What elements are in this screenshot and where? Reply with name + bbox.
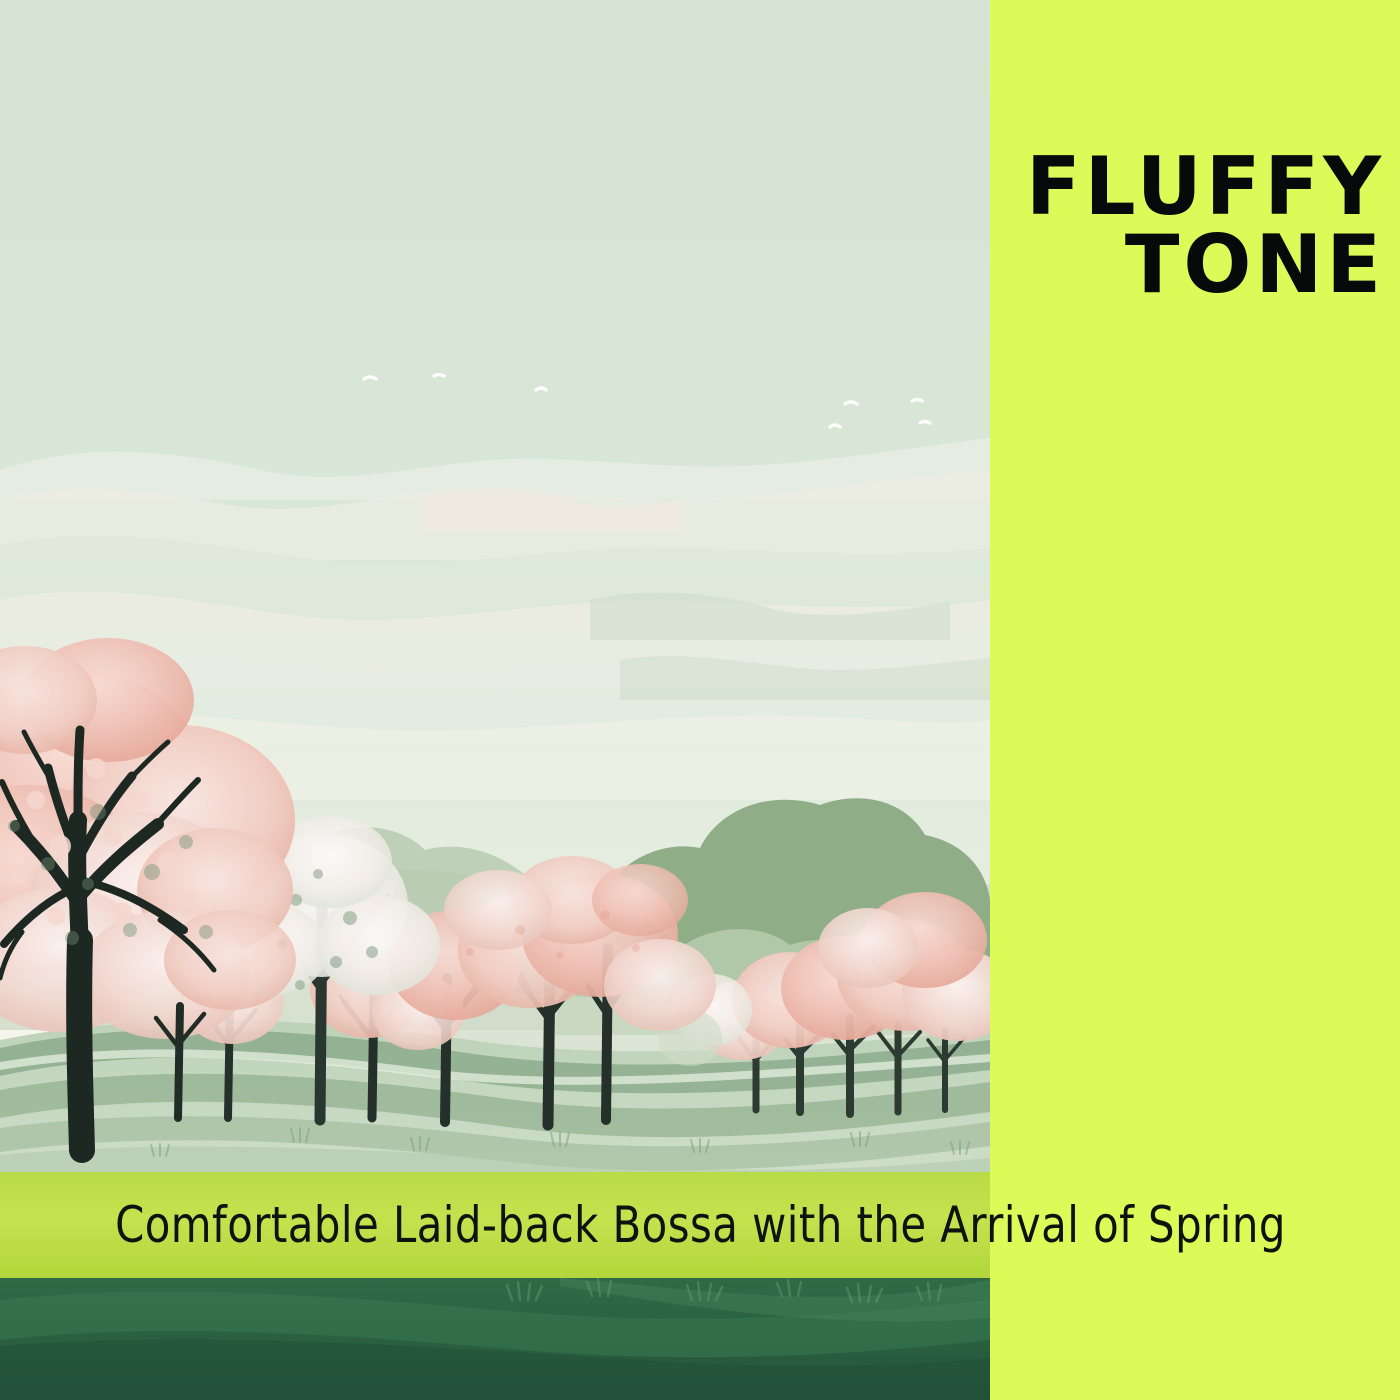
album-title: FLUFFY TONE [1005, 148, 1385, 305]
album-title-line-1: FLUFFY [1005, 148, 1385, 226]
foreground-bank [0, 1278, 990, 1400]
album-title-line-2: TONE [1005, 226, 1385, 304]
album-subtitle-text: Comfortable Laid-back Bossa with the Arr… [115, 1196, 1286, 1254]
album-subtitle: Comfortable Laid-back Bossa with the Arr… [0, 1172, 1400, 1278]
album-cover: FLUFFY TONE Comfortable Laid-back Bossa … [0, 0, 1400, 1400]
